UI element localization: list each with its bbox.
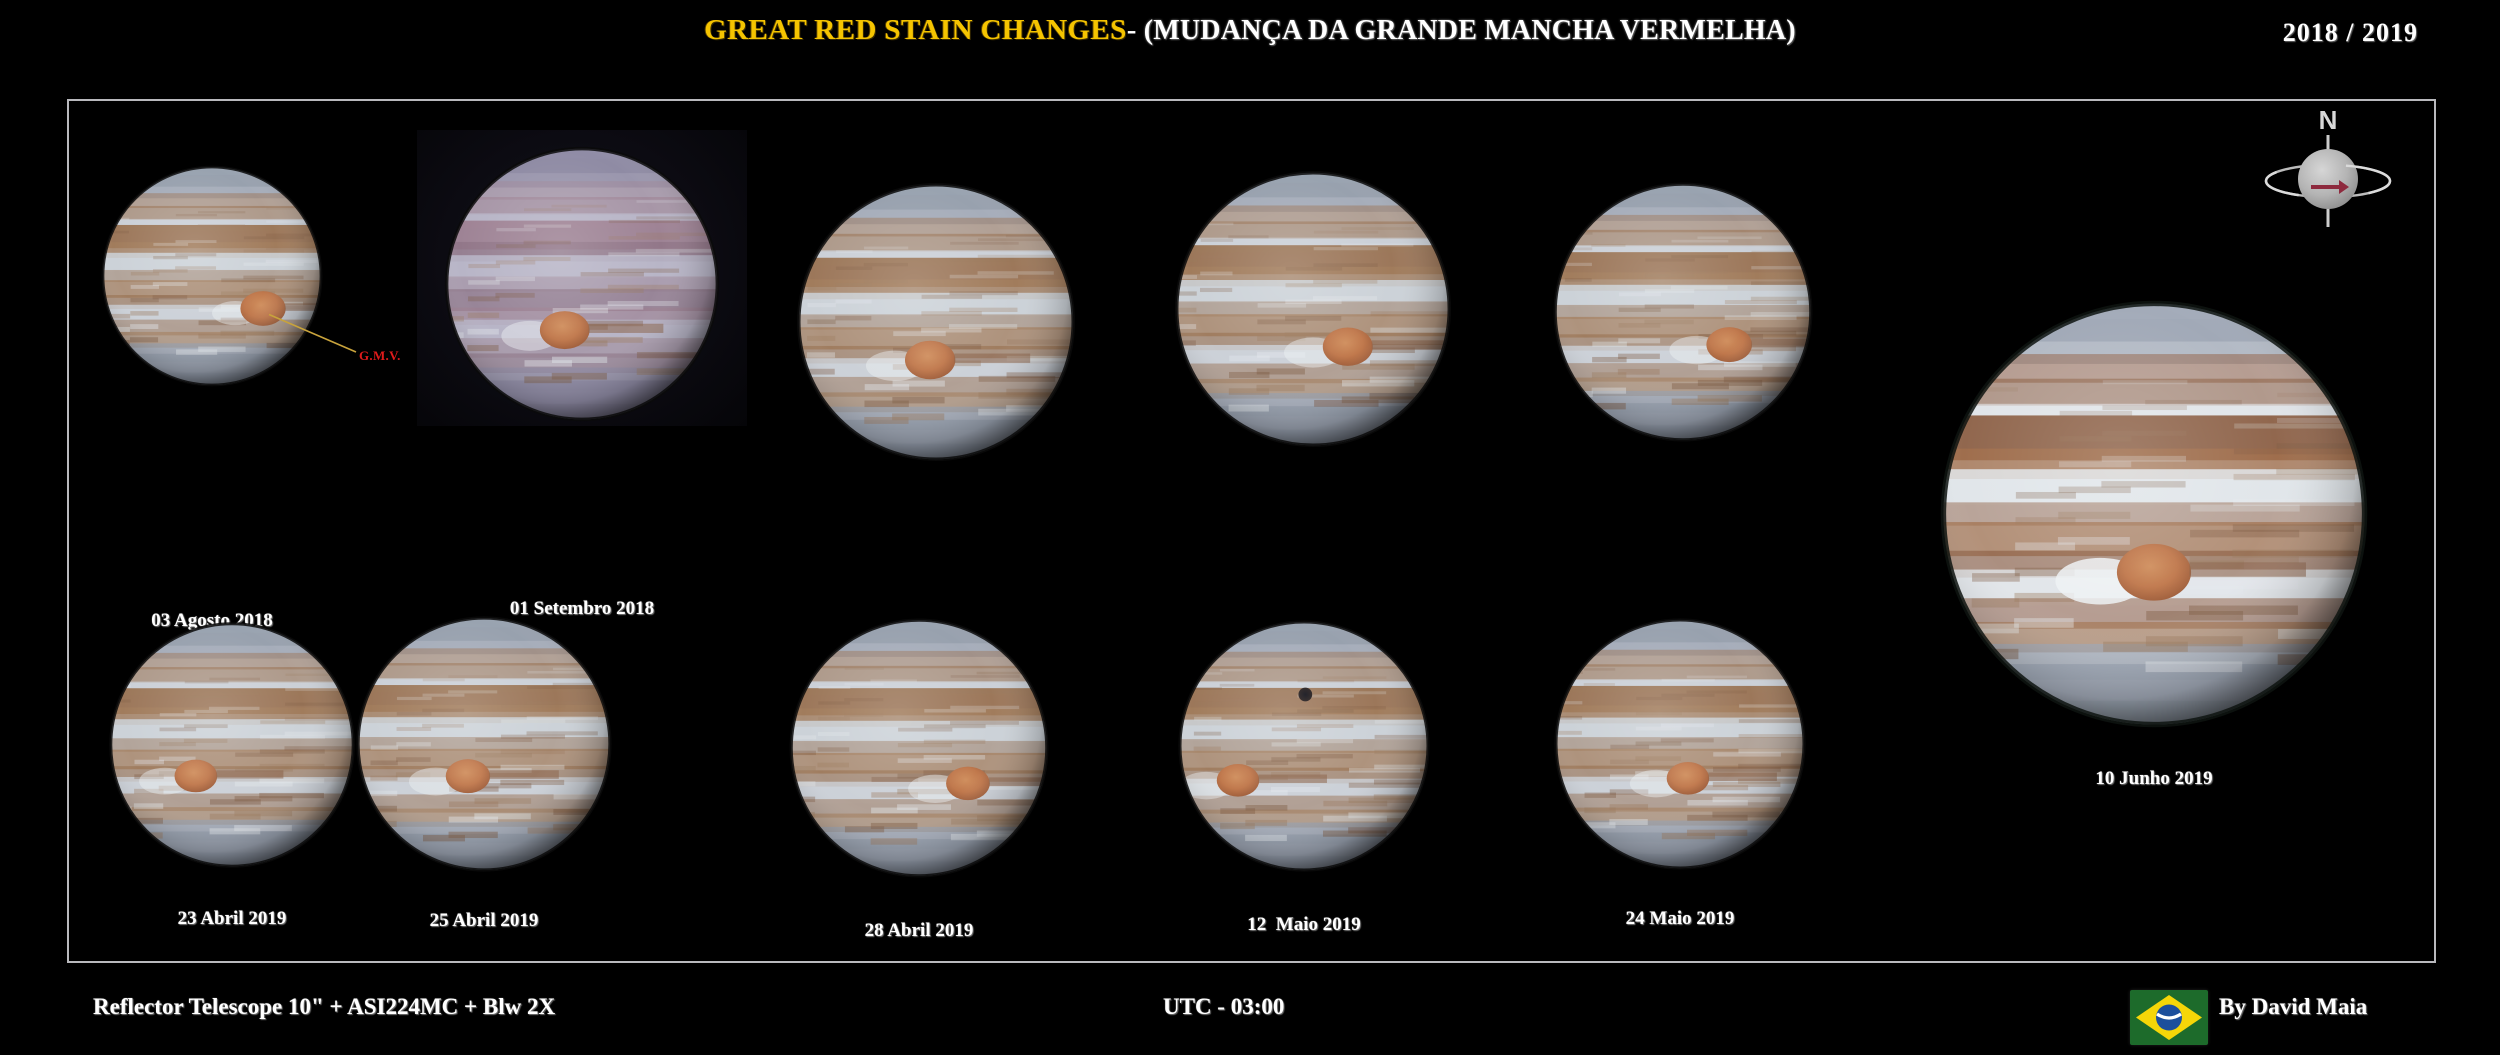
poster-root: GREAT RED STAIN CHANGES- (MUDANÇA DA GRA…	[0, 0, 2500, 1055]
jupiter-disc	[1168, 164, 1458, 454]
planet-card-p2[interactable]: 01 Setembro 2018	[438, 140, 726, 632]
planet-date-label-p8: 28 Abril 2019	[783, 920, 1055, 942]
title-english: GREAT RED STAIN CHANGES	[704, 14, 1127, 46]
jupiter-disc	[96, 160, 328, 392]
planet-date-label-p11: 10 Junho 2019	[1930, 768, 2378, 790]
planet-image-p5[interactable]	[1547, 176, 1819, 453]
planet-date-label-p7: 25 Abril 2019	[350, 910, 618, 932]
planet-image-p4[interactable]	[1168, 164, 1458, 459]
utc-label: UTC - 03:00	[1163, 994, 1284, 1020]
jupiter-disc	[783, 612, 1055, 884]
planet-date-label-p9: 12 Maio 2019	[1172, 914, 1436, 936]
planet-card-p10[interactable]: 24 Maio 2019	[1548, 612, 1812, 942]
planet-image-p1[interactable]	[96, 160, 328, 397]
planet-card-p9[interactable]: 12 Maio 2019	[1172, 614, 1436, 948]
jupiter-disc	[103, 616, 361, 874]
planet-date-label-p6: 23 Abril 2019	[103, 908, 361, 930]
planet-image-p8[interactable]	[783, 612, 1055, 889]
planet-date-label-p10: 24 Maio 2019	[1548, 908, 1812, 930]
planet-image-p6[interactable]	[103, 616, 361, 879]
planet-image-p11[interactable]	[1930, 290, 2378, 743]
header: GREAT RED STAIN CHANGES- (MUDANÇA DA GRA…	[0, 0, 2500, 66]
jupiter-disc	[1548, 612, 1812, 876]
planet-card-p3[interactable]: 03 Abril 2019	[790, 176, 1082, 676]
page-title: GREAT RED STAIN CHANGES- (MUDANÇA DA GRA…	[0, 14, 2500, 47]
planet-image-p7[interactable]	[350, 610, 618, 883]
footer: Reflector Telescope 10" + ASI224MC + Blw…	[0, 972, 2500, 1055]
title-separator: -	[1127, 14, 1144, 46]
planet-image-p2[interactable]	[438, 140, 726, 433]
jupiter-disc	[1547, 176, 1819, 448]
planet-image-p9[interactable]	[1172, 614, 1436, 883]
planet-orientation-icon: N	[2253, 105, 2403, 255]
title-portuguese: (MUDANÇA DA GRANDE MANCHA VERMELHA)	[1144, 15, 1796, 46]
equipment-label: Reflector Telescope 10" + ASI224MC + Blw…	[93, 994, 555, 1020]
planet-card-p1[interactable]: 03 Agosto 2018	[96, 160, 328, 644]
jupiter-disc	[350, 610, 618, 878]
jupiter-disc	[1930, 290, 2378, 738]
brazil-flag-icon	[2130, 990, 2208, 1045]
planet-card-p7[interactable]: 25 Abril 2019	[350, 610, 618, 944]
planet-card-p5[interactable]: 19 Abril 2019	[1547, 176, 1819, 674]
author-label: By David Maia	[2219, 994, 2367, 1020]
planet-card-p6[interactable]: 23 Abril 2019	[103, 616, 361, 942]
planet-image-p3[interactable]	[790, 176, 1082, 473]
planet-image-p10[interactable]	[1548, 612, 1812, 881]
planet-card-p8[interactable]: 28 Abril 2019	[783, 612, 1055, 954]
north-label: N	[2253, 105, 2403, 136]
planet-card-p11[interactable]: 10 Junho 2019	[1930, 290, 2378, 802]
jupiter-disc	[438, 140, 726, 428]
planet-card-p4[interactable]: 18 Abril 2019	[1168, 164, 1458, 674]
jupiter-disc	[1172, 614, 1436, 878]
year-range-label: 2018 / 2019	[2283, 18, 2418, 48]
jupiter-disc	[790, 176, 1082, 468]
